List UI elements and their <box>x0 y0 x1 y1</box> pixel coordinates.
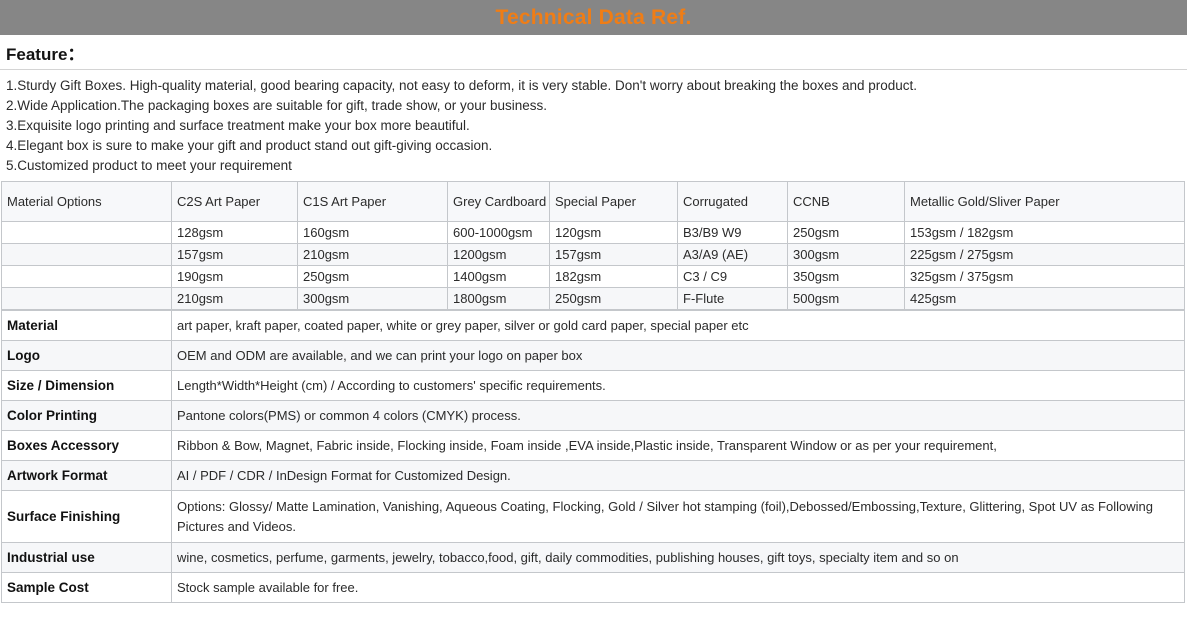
cell: 153gsm / 182gsm <box>905 222 1185 244</box>
spec-label: Sample Cost <box>2 573 172 603</box>
column-header-c2s-art-paper: C2S Art Paper <box>172 182 298 222</box>
column-header-grey-cardboard: Grey Cardboard <box>448 182 550 222</box>
spec-label: Surface Finishing <box>2 491 172 543</box>
column-header-special-paper: Special Paper <box>550 182 678 222</box>
cell: 425gsm <box>905 288 1185 310</box>
spec-row-color-printing: Color Printing Pantone colors(PMS) or co… <box>2 401 1185 431</box>
cell: 160gsm <box>298 222 448 244</box>
material-options-table: Material Options C2S Art Paper C1S Art P… <box>1 181 1185 310</box>
cell: 1800gsm <box>448 288 550 310</box>
spec-row-surface-finishing: Surface Finishing Options: Glossy/ Matte… <box>2 491 1185 543</box>
feature-line: 4.Elegant box is sure to make your gift … <box>6 136 1181 156</box>
cell: 350gsm <box>788 266 905 288</box>
spec-row-size-dimension: Size / Dimension Length*Width*Height (cm… <box>2 371 1185 401</box>
cell: 190gsm <box>172 266 298 288</box>
spec-row-artwork-format: Artwork Format AI / PDF / CDR / InDesign… <box>2 461 1185 491</box>
column-header-ccnb: CCNB <box>788 182 905 222</box>
spec-value: wine, cosmetics, perfume, garments, jewe… <box>172 543 1185 573</box>
specification-table: Material art paper, kraft paper, coated … <box>1 310 1185 603</box>
feature-line: 1.Sturdy Gift Boxes. High-quality materi… <box>6 76 1181 96</box>
cell: 120gsm <box>550 222 678 244</box>
cell: C3 / C9 <box>678 266 788 288</box>
cell <box>2 222 172 244</box>
spec-value: Pantone colors(PMS) or common 4 colors (… <box>172 401 1185 431</box>
cell: 500gsm <box>788 288 905 310</box>
cell: 250gsm <box>550 288 678 310</box>
cell: 157gsm <box>172 244 298 266</box>
table-row: 210gsm 300gsm 1800gsm 250gsm F-Flute 500… <box>2 288 1185 310</box>
cell <box>2 288 172 310</box>
spec-row-sample-cost: Sample Cost Stock sample available for f… <box>2 573 1185 603</box>
spec-value: Length*Width*Height (cm) / According to … <box>172 371 1185 401</box>
cell: 1200gsm <box>448 244 550 266</box>
column-header-c1s-art-paper: C1S Art Paper <box>298 182 448 222</box>
header-band: Technical Data Ref. <box>0 0 1187 36</box>
technical-data-sheet: Technical Data Ref. Feature： 1.Sturdy Gi… <box>0 0 1187 620</box>
spec-value: Options: Glossy/ Matte Lamination, Vanis… <box>172 491 1185 543</box>
feature-list: 1.Sturdy Gift Boxes. High-quality materi… <box>0 70 1187 181</box>
cell: 210gsm <box>172 288 298 310</box>
column-header-material-options: Material Options <box>2 182 172 222</box>
cell: 1400gsm <box>448 266 550 288</box>
spec-row-material: Material art paper, kraft paper, coated … <box>2 311 1185 341</box>
table-header-row: Material Options C2S Art Paper C1S Art P… <box>2 182 1185 222</box>
table-row: 128gsm 160gsm 600-1000gsm 120gsm B3/B9 W… <box>2 222 1185 244</box>
cell: 210gsm <box>298 244 448 266</box>
spec-value: art paper, kraft paper, coated paper, wh… <box>172 311 1185 341</box>
cell: A3/A9 (AE) <box>678 244 788 266</box>
cell: 600-1000gsm <box>448 222 550 244</box>
column-header-corrugated: Corrugated <box>678 182 788 222</box>
spec-row-boxes-accessory: Boxes Accessory Ribbon & Bow, Magnet, Fa… <box>2 431 1185 461</box>
cell: 250gsm <box>298 266 448 288</box>
spec-label: Color Printing <box>2 401 172 431</box>
feature-line: 3.Exquisite logo printing and surface tr… <box>6 116 1181 136</box>
cell: 325gsm / 375gsm <box>905 266 1185 288</box>
spec-label: Logo <box>2 341 172 371</box>
feature-heading: Feature： <box>0 36 1187 70</box>
feature-line: 2.Wide Application.The packaging boxes a… <box>6 96 1181 116</box>
spec-row-industrial-use: Industrial use wine, cosmetics, perfume,… <box>2 543 1185 573</box>
cell <box>2 244 172 266</box>
spec-label: Material <box>2 311 172 341</box>
spec-value: AI / PDF / CDR / InDesign Format for Cus… <box>172 461 1185 491</box>
cell: 182gsm <box>550 266 678 288</box>
feature-line: 5.Customized product to meet your requir… <box>6 156 1181 176</box>
cell: 128gsm <box>172 222 298 244</box>
spec-value: OEM and ODM are available, and we can pr… <box>172 341 1185 371</box>
spec-label: Artwork Format <box>2 461 172 491</box>
cell: F-Flute <box>678 288 788 310</box>
spec-label: Size / Dimension <box>2 371 172 401</box>
spec-label: Industrial use <box>2 543 172 573</box>
spec-value: Stock sample available for free. <box>172 573 1185 603</box>
column-header-metallic-gold-sliver-paper: Metallic Gold/Sliver Paper <box>905 182 1185 222</box>
spec-value: Ribbon & Bow, Magnet, Fabric inside, Flo… <box>172 431 1185 461</box>
spec-row-logo: Logo OEM and ODM are available, and we c… <box>2 341 1185 371</box>
cell: 300gsm <box>298 288 448 310</box>
cell: 250gsm <box>788 222 905 244</box>
feature-label: Feature： <box>6 40 84 65</box>
cell: B3/B9 W9 <box>678 222 788 244</box>
cell: 157gsm <box>550 244 678 266</box>
spec-label: Boxes Accessory <box>2 431 172 461</box>
page-title: Technical Data Ref. <box>496 7 692 28</box>
cell: 225gsm / 275gsm <box>905 244 1185 266</box>
cell <box>2 266 172 288</box>
table-row: 190gsm 250gsm 1400gsm 182gsm C3 / C9 350… <box>2 266 1185 288</box>
cell: 300gsm <box>788 244 905 266</box>
table-row: 157gsm 210gsm 1200gsm 157gsm A3/A9 (AE) … <box>2 244 1185 266</box>
